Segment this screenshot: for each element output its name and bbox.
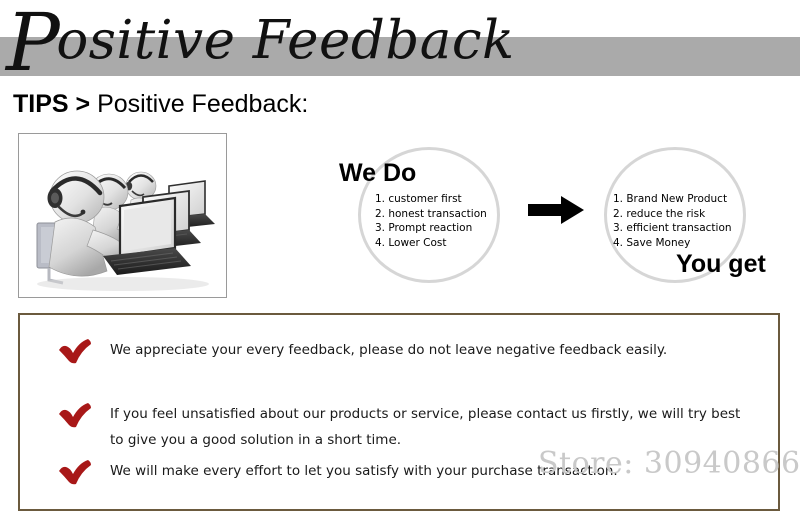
you-get-list: 1. Brand New Product 2. reduce the risk … [613, 192, 732, 250]
list-item: 1. Brand New Product [613, 192, 732, 207]
check-mark-icon [58, 459, 92, 485]
you-get-title: You get [676, 250, 766, 278]
list-item: 2. reduce the risk [613, 207, 732, 222]
list-item: 3. Prompt reaction [375, 221, 487, 236]
page-title-prefix: TIPS > [13, 90, 90, 118]
call-center-team-photo [18, 133, 227, 298]
we-do-list: 1. customer first 2. honest transaction … [375, 192, 487, 250]
check-mark-icon [58, 338, 92, 364]
list-item: 1. customer first [375, 192, 487, 207]
banner-script-capital: P [6, 0, 60, 89]
note-text: We appreciate your every feedback, pleas… [110, 337, 758, 363]
photo-illustration [19, 134, 226, 297]
page-title: TIPS > Positive Feedback: [13, 89, 308, 119]
list-item: 4. Lower Cost [375, 236, 487, 251]
list-item: 2. honest transaction [375, 207, 487, 222]
list-item: 3. efficient transaction [613, 221, 732, 236]
right-arrow-icon [528, 196, 584, 224]
banner-script-title: Positive Feedback [6, 8, 506, 80]
list-item: 4. Save Money [613, 236, 732, 251]
we-do-title: We Do [339, 159, 416, 187]
banner-script-rest: ositive Feedback [56, 10, 514, 71]
note-item: We appreciate your every feedback, pleas… [58, 337, 758, 364]
page-title-suffix: Positive Feedback: [90, 90, 308, 118]
feedback-notes-box: We appreciate your every feedback, pleas… [18, 313, 780, 511]
store-watermark: Store: 30940866 [538, 447, 800, 481]
check-mark-icon [58, 402, 92, 428]
